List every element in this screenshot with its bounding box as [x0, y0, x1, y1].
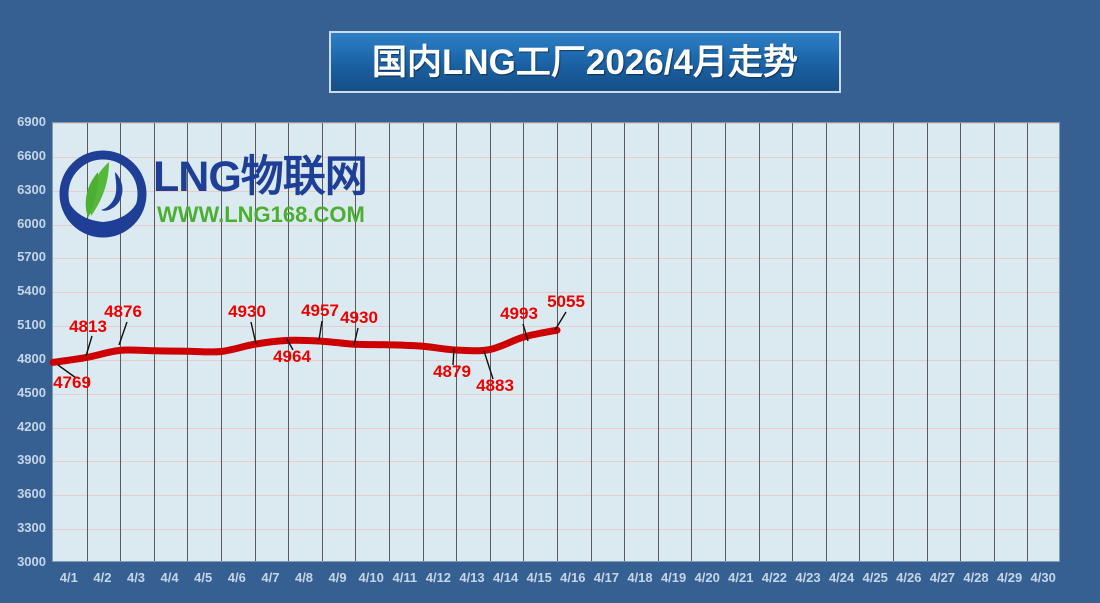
label-leader-line	[484, 351, 493, 379]
x-axis-tick-label: 4/8	[295, 570, 313, 585]
x-axis-tick-label: 4/30	[1031, 570, 1056, 585]
x-axis-tick-label: 4/29	[997, 570, 1022, 585]
label-leader-line	[251, 322, 256, 344]
data-point-label: 4876	[104, 302, 142, 322]
x-axis-tick-label: 4/21	[728, 570, 753, 585]
x-axis-tick-label: 4/19	[661, 570, 686, 585]
lng-price-chart: 国内LNG工厂2026/4月走势 69006600630060005700540…	[0, 0, 1100, 603]
x-axis-tick-label: 4/7	[261, 570, 279, 585]
x-axis-tick-label: 4/16	[560, 570, 585, 585]
data-point-label: 4993	[500, 304, 538, 324]
label-leader-line	[319, 321, 322, 340]
x-axis-tick-label: 4/24	[829, 570, 854, 585]
x-axis-tick-label: 4/18	[627, 570, 652, 585]
label-leader-line	[555, 312, 566, 330]
data-point-label: 4930	[228, 302, 266, 322]
x-axis-tick-label: 4/17	[594, 570, 619, 585]
data-point-label: 4879	[433, 362, 471, 382]
data-point-label: 4957	[301, 301, 339, 321]
x-axis-tick-label: 4/5	[194, 570, 212, 585]
x-axis-tick-label: 4/4	[161, 570, 179, 585]
x-axis-tick-label: 4/12	[426, 570, 451, 585]
x-axis-tick-label: 4/10	[359, 570, 384, 585]
data-point-label: 4813	[69, 317, 107, 337]
x-axis-tick-label: 4/15	[527, 570, 552, 585]
data-point-label: 4769	[53, 373, 91, 393]
x-axis-tick-label: 4/20	[695, 570, 720, 585]
x-axis-tick-label: 4/3	[127, 570, 145, 585]
x-axis-tick-label: 4/27	[930, 570, 955, 585]
x-axis-tick-label: 4/14	[493, 570, 518, 585]
x-axis-tick-label: 4/23	[795, 570, 820, 585]
data-point-label: 4964	[273, 347, 311, 367]
x-axis-tick-label: 4/6	[228, 570, 246, 585]
x-axis-tick-label: 4/22	[762, 570, 787, 585]
x-axis-tick-label: 4/9	[329, 570, 347, 585]
x-axis-tick-label: 4/1	[60, 570, 78, 585]
x-axis-tick-label: 4/28	[963, 570, 988, 585]
x-axis-tick-label: 4/11	[393, 570, 418, 585]
x-axis-tick-label: 4/25	[863, 570, 888, 585]
x-axis-tick-label: 4/26	[896, 570, 921, 585]
x-axis-tick-label: 4/2	[93, 570, 111, 585]
data-point-label: 5055	[547, 292, 585, 312]
data-point-label: 4930	[340, 308, 378, 328]
data-point-label: 4883	[476, 376, 514, 396]
label-leader-line	[119, 322, 127, 345]
x-axis-tick-label: 4/13	[459, 570, 484, 585]
